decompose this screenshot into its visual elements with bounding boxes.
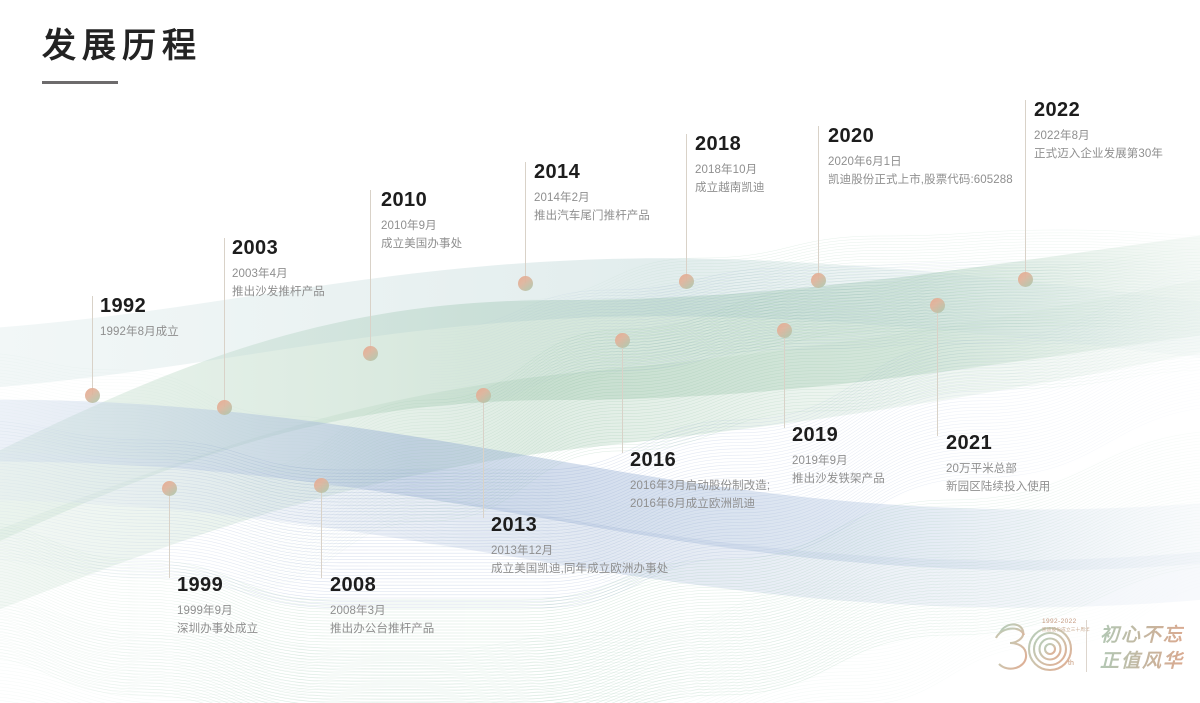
timeline-connector-line: [92, 296, 93, 395]
timeline-node-text: 20032003年4月推出沙发推杆产品: [232, 238, 325, 302]
timeline-year-label: 1992: [100, 296, 179, 317]
page-title: 发展历程: [42, 26, 202, 67]
timeline-description-line: 2018年10月: [695, 162, 765, 180]
timeline-description-line: 2016年6月成立欧洲凯迪: [630, 496, 770, 514]
timeline-node-text: 20222022年8月正式迈入企业发展第30年: [1034, 100, 1163, 164]
timeline-description-line: 2013年12月: [491, 543, 668, 561]
timeline-node-text: 20142014年2月推出汽车尾门推杆产品: [534, 162, 650, 226]
timeline-description: 2008年3月推出办公台推杆产品: [330, 603, 434, 639]
timeline-description: 2016年3月启动股份制改造;2016年6月成立欧洲凯迪: [630, 478, 770, 514]
timeline-year-label: 2008: [330, 575, 434, 596]
timeline-node-text: 20192019年9月推出沙发铁架产品: [792, 425, 885, 489]
logo-year-range: 1992-2022: [1042, 618, 1077, 625]
timeline-node-dot: [811, 273, 826, 288]
timeline-description-line: 2022年8月: [1034, 128, 1163, 146]
timeline-year-label: 1999: [177, 575, 258, 596]
timeline-node-dot: [930, 298, 945, 313]
timeline-node-dot: [679, 274, 694, 289]
timeline-description-line: 成立越南凯迪: [695, 180, 765, 198]
timeline-node-text: 202120万平米总部新园区陆续投入使用: [946, 433, 1050, 497]
timeline-connector-line: [224, 238, 225, 407]
timeline-description-line: 正式迈入企业发展第30年: [1034, 146, 1163, 164]
timeline-description: 2022年8月正式迈入企业发展第30年: [1034, 128, 1163, 164]
timeline-description-line: 新园区陆续投入使用: [946, 479, 1050, 497]
timeline-description: 2010年9月成立美国办事处: [381, 218, 462, 254]
timeline-year-label: 2021: [946, 433, 1050, 454]
thirty-anniversary-icon: [990, 616, 1076, 678]
timeline-description-line: 凯迪股份正式上市,股票代码:605288: [828, 172, 1013, 190]
timeline-description-line: 推出汽车尾门推杆产品: [534, 208, 650, 226]
timeline-node-dot: [476, 388, 491, 403]
timeline-description-line: 成立美国凯迪,同年成立欧洲办事处: [491, 561, 668, 579]
timeline-connector-line: [937, 305, 938, 436]
timeline-year-label: 2019: [792, 425, 885, 446]
timeline-year-label: 2003: [232, 238, 325, 259]
timeline-description-line: 2003年4月: [232, 266, 325, 284]
timeline-description-line: 2010年9月: [381, 218, 462, 236]
timeline-connector-line: [370, 190, 371, 353]
timeline-node-dot: [217, 400, 232, 415]
timeline-node-dot: [518, 276, 533, 291]
timeline-connector-line: [784, 330, 785, 428]
logo-slogan-line-1: 初心不忘: [1100, 620, 1184, 647]
timeline-node-dot: [314, 478, 329, 493]
timeline-node-dot: [162, 481, 177, 496]
timeline-year-label: 2020: [828, 126, 1013, 147]
timeline-node-dot: [615, 333, 630, 348]
logo-divider: [1086, 620, 1087, 672]
timeline-description-line: 推出沙发铁架产品: [792, 471, 885, 489]
timeline-year-label: 2013: [491, 515, 668, 536]
timeline-node-dot: [777, 323, 792, 338]
logo-slogan-line-2: 正值风华: [1100, 646, 1184, 673]
timeline-description-line: 2016年3月启动股份制改造;: [630, 478, 770, 496]
timeline-connector-line: [686, 134, 687, 281]
timeline-description: 2019年9月推出沙发铁架产品: [792, 453, 885, 489]
timeline-description: 2013年12月成立美国凯迪,同年成立欧洲办事处: [491, 543, 668, 579]
timeline-node-text: 20132013年12月成立美国凯迪,同年成立欧洲办事处: [491, 515, 668, 579]
timeline-description: 1999年9月深圳办事处成立: [177, 603, 258, 639]
timeline-description-line: 2014年2月: [534, 190, 650, 208]
timeline-description: 2018年10月成立越南凯迪: [695, 162, 765, 198]
timeline-connector-line: [818, 126, 819, 280]
timeline-node-text: 20082008年3月推出办公台推杆产品: [330, 575, 434, 639]
timeline-description-line: 1992年8月成立: [100, 324, 179, 342]
timeline-connector-line: [321, 485, 322, 578]
timeline-description: 20万平米总部新园区陆续投入使用: [946, 461, 1050, 497]
timeline-connector-line: [622, 340, 623, 453]
timeline-description-line: 20万平米总部: [946, 461, 1050, 479]
timeline-connector-line: [525, 162, 526, 283]
timeline-description-line: 推出沙发推杆产品: [232, 284, 325, 302]
timeline-year-label: 2018: [695, 134, 765, 155]
timeline-connector-line: [483, 395, 484, 518]
timeline-node-dot: [1018, 272, 1033, 287]
timeline-node-dot: [363, 346, 378, 361]
timeline-year-label: 2010: [381, 190, 462, 211]
timeline-year-label: 2016: [630, 450, 770, 471]
timeline-description-line: 2020年6月1日: [828, 154, 1013, 172]
timeline-description-line: 深圳办事处成立: [177, 621, 258, 639]
anniversary-logo: 1992-2022 凯迪股份成立三十周年 th 初心不忘 正值风华: [990, 612, 1190, 684]
timeline-year-label: 2022: [1034, 100, 1163, 121]
timeline-year-label: 2014: [534, 162, 650, 183]
timeline-description: 2014年2月推出汽车尾门推杆产品: [534, 190, 650, 226]
logo-ordinal-suffix: th: [1068, 660, 1074, 667]
timeline-description-line: 2019年9月: [792, 453, 885, 471]
timeline-description-line: 成立美国办事处: [381, 236, 462, 254]
timeline-node-text: 20102010年9月成立美国办事处: [381, 190, 462, 254]
timeline-description-line: 2008年3月: [330, 603, 434, 621]
logo-subtitle: 凯迪股份成立三十周年: [1042, 627, 1090, 633]
timeline-infographic: 发展历程: [0, 0, 1200, 703]
timeline-node-text: 19921992年8月成立: [100, 296, 179, 342]
timeline-node-text: 20182018年10月成立越南凯迪: [695, 134, 765, 198]
timeline-connector-line: [1025, 100, 1026, 279]
timeline-description-line: 1999年9月: [177, 603, 258, 621]
timeline-description: 2020年6月1日凯迪股份正式上市,股票代码:605288: [828, 154, 1013, 190]
timeline-description-line: 推出办公台推杆产品: [330, 621, 434, 639]
timeline-node-text: 19991999年9月深圳办事处成立: [177, 575, 258, 639]
title-underline: [42, 81, 118, 84]
timeline-description: 2003年4月推出沙发推杆产品: [232, 266, 325, 302]
timeline-description: 1992年8月成立: [100, 324, 179, 342]
timeline-node-text: 20202020年6月1日凯迪股份正式上市,股票代码:605288: [828, 126, 1013, 190]
timeline-node-dot: [85, 388, 100, 403]
timeline-node-text: 20162016年3月启动股份制改造;2016年6月成立欧洲凯迪: [630, 450, 770, 514]
timeline-connector-line: [169, 488, 170, 578]
